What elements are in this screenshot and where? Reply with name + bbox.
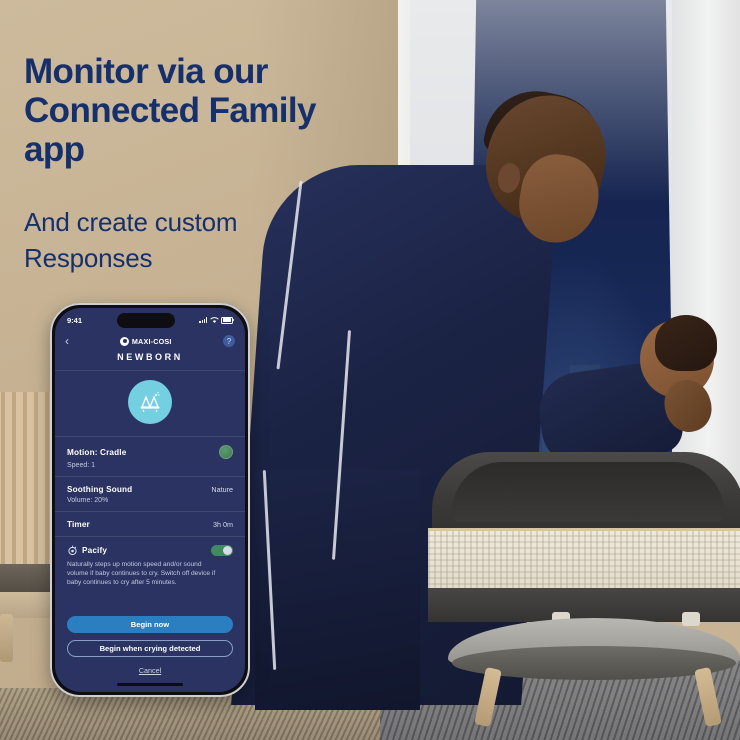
row-value: Nature xyxy=(211,485,233,494)
header-divider xyxy=(55,370,245,371)
battery-icon xyxy=(221,317,233,324)
app-screen: 9:41 ‹ MAXI-COSI ? NEWBORN xyxy=(55,308,245,692)
status-badge xyxy=(219,445,233,459)
row-title: Soothing Sound xyxy=(67,485,132,494)
status-time: 9:41 xyxy=(67,316,82,325)
pacify-icon xyxy=(67,545,78,556)
signal-bars-icon xyxy=(199,317,207,323)
cancel-link[interactable]: Cancel xyxy=(67,666,233,675)
brand-name: MAXI-COSI xyxy=(132,337,172,346)
mode-title: NEWBORN xyxy=(55,352,245,362)
action-buttons: Begin now Begin when crying detected Can… xyxy=(55,616,245,675)
bassinet-icon xyxy=(128,380,172,424)
list-item-soothing-sound[interactable]: Soothing Sound Nature Volume: 20% xyxy=(55,476,245,511)
row-subtitle: Speed: 1 xyxy=(67,462,233,469)
phone-notch xyxy=(117,313,175,328)
page-subtitle: And create custom Responses xyxy=(24,204,344,276)
bassinet-interior xyxy=(452,462,724,522)
maxi-cosi-logo-icon: MAXI-COSI xyxy=(120,337,171,346)
pacify-title: Pacify xyxy=(82,546,107,555)
back-chevron-icon[interactable]: ‹ xyxy=(65,335,69,347)
help-icon[interactable]: ? xyxy=(223,335,235,347)
app-nav-bar: ‹ MAXI-COSI ? xyxy=(55,332,245,350)
wifi-icon xyxy=(210,317,219,324)
list-item-timer[interactable]: Timer 3h 0m xyxy=(55,511,245,536)
row-title: Motion: Cradle xyxy=(67,448,126,457)
page-title: Monitor via our Connected Family app xyxy=(24,52,354,169)
list-item-motion[interactable]: Motion: Cradle Speed: 1 xyxy=(55,436,245,476)
settings-list: Motion: Cradle Speed: 1 Soothing Sound N… xyxy=(55,436,245,594)
list-item-pacify[interactable]: Pacify Naturally steps up motion speed a… xyxy=(55,536,245,594)
bassinet-mesh-panel xyxy=(428,528,740,594)
pacify-toggle[interactable] xyxy=(211,545,233,556)
home-indicator xyxy=(117,683,183,686)
row-value: 3h 0m xyxy=(213,520,233,529)
baby-hair xyxy=(655,315,717,371)
promo-banner: Monitor via our Connected Family app And… xyxy=(0,0,740,740)
begin-now-button[interactable]: Begin now xyxy=(67,616,233,633)
row-subtitle: Volume: 20% xyxy=(67,497,233,504)
phone-mockup: 9:41 ‹ MAXI-COSI ? NEWBORN xyxy=(50,303,250,697)
row-title: Timer xyxy=(67,520,90,529)
pacify-description: Naturally steps up motion speed and/or s… xyxy=(67,560,217,587)
begin-when-crying-button[interactable]: Begin when crying detected xyxy=(67,640,233,657)
